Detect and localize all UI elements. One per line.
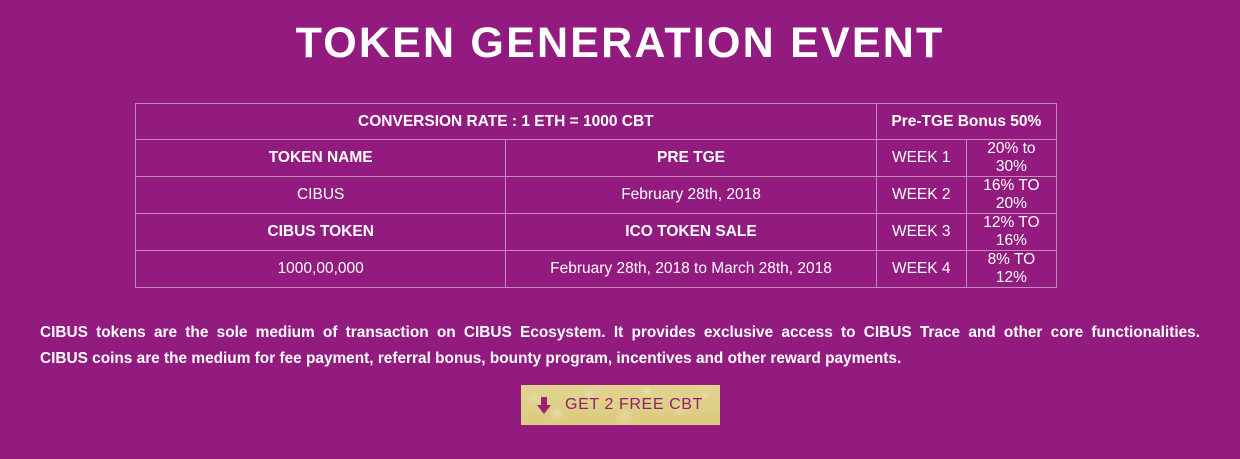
token-generation-table: CONVERSION RATE : 1 ETH = 1000 CBT Pre-T… bbox=[135, 103, 1057, 288]
pre-tge-bonus-header: Pre-TGE Bonus 50% bbox=[876, 104, 1056, 140]
cell-bonus: 8% TO 12% bbox=[966, 251, 1056, 288]
get-free-cbt-button[interactable]: GET 2 FREE CBT bbox=[521, 385, 720, 425]
cell-pre-tge: February 28th, 2018 bbox=[506, 177, 876, 214]
table-row: 1000,00,000 February 28th, 2018 to March… bbox=[136, 251, 1057, 288]
cell-token-name: 1000,00,000 bbox=[136, 251, 506, 288]
page-title: TOKEN GENERATION EVENT bbox=[0, 0, 1240, 65]
cell-token-name: CIBUS TOKEN bbox=[136, 214, 506, 251]
get-free-cbt-label: GET 2 FREE CBT bbox=[565, 396, 703, 414]
description-line-1: CIBUS tokens are the sole medium of tran… bbox=[40, 320, 1200, 346]
description-line-2: CIBUS coins are the medium for fee payme… bbox=[40, 346, 1200, 372]
cell-bonus: 16% TO 20% bbox=[966, 177, 1056, 214]
table-row: TOKEN NAME PRE TGE WEEK 1 20% to 30% bbox=[136, 140, 1057, 177]
cell-pre-tge: ICO TOKEN SALE bbox=[506, 214, 876, 251]
table-row: CIBUS TOKEN ICO TOKEN SALE WEEK 3 12% TO… bbox=[136, 214, 1057, 251]
cell-pre-tge: PRE TGE bbox=[506, 140, 876, 177]
cell-pre-tge: February 28th, 2018 to March 28th, 2018 bbox=[506, 251, 876, 288]
cell-token-name: CIBUS bbox=[136, 177, 506, 214]
cell-week: WEEK 3 bbox=[876, 214, 966, 251]
cta-container: GET 2 FREE CBT bbox=[0, 385, 1240, 425]
cell-bonus: 20% to 30% bbox=[966, 140, 1056, 177]
cell-bonus: 12% TO 16% bbox=[966, 214, 1056, 251]
cell-week: WEEK 2 bbox=[876, 177, 966, 214]
cell-token-name: TOKEN NAME bbox=[136, 140, 506, 177]
description-paragraph: CIBUS tokens are the sole medium of tran… bbox=[40, 320, 1200, 372]
table-row: CIBUS February 28th, 2018 WEEK 2 16% TO … bbox=[136, 177, 1057, 214]
cell-week: WEEK 1 bbox=[876, 140, 966, 177]
cell-week: WEEK 4 bbox=[876, 251, 966, 288]
conversion-rate-header: CONVERSION RATE : 1 ETH = 1000 CBT bbox=[136, 104, 877, 140]
table-row-header: CONVERSION RATE : 1 ETH = 1000 CBT Pre-T… bbox=[136, 104, 1057, 140]
arrow-down-icon bbox=[537, 397, 551, 414]
